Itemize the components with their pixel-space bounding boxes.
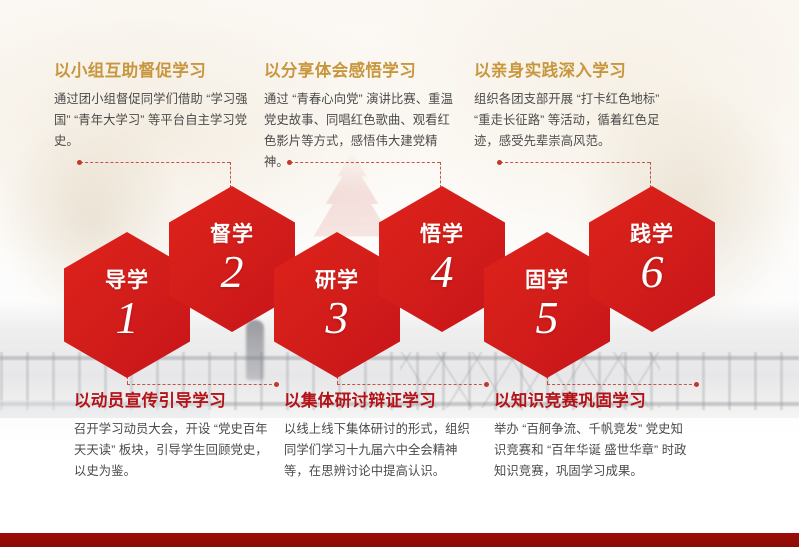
step-label-5: 固学 — [525, 270, 569, 291]
connector-line-top-3-vertical — [650, 162, 651, 188]
connector-dot-bottom-2 — [484, 382, 489, 387]
top-block-title-2: 以分享体会感悟学习 — [264, 62, 460, 82]
step-label-6: 践学 — [630, 224, 674, 245]
bottom-text-block-2: 以集体研讨辩证学习 以线上线下集体研讨的形式，组织同学们学习十九届六中全会精神等… — [284, 392, 480, 482]
background-person-silhouette — [246, 320, 264, 380]
top-text-block-2: 以分享体会感悟学习 通过 “青春心向党” 演讲比赛、重温党史故事、同唱红色歌曲、… — [264, 62, 460, 173]
bottom-text-block-3: 以知识竞赛巩固学习 举办 “百舸争流、千帆竞发” 党史知识竞赛和 “百年华诞 盛… — [494, 392, 690, 482]
step-number-2: 2 — [221, 249, 244, 295]
connector-dot-bottom-1 — [274, 382, 279, 387]
top-block-body-2: 通过 “青春心向党” 演讲比赛、重温党史故事、同唱红色歌曲、观看红色影片等方式，… — [264, 89, 460, 174]
top-block-body-3: 组织各团支部开展 “打卡红色地标” “重走长征路” 等活动，循着红色足迹，感受先… — [474, 89, 670, 152]
step-number-3: 3 — [326, 295, 349, 341]
connector-line-bottom-3-horizontal — [547, 384, 697, 385]
infographic-canvas: 导学 1 督学 2 研学 3 悟学 4 固学 5 践学 6 以小组互助督促学习 … — [0, 0, 799, 547]
top-block-title-3: 以亲身实践深入学习 — [474, 62, 670, 82]
bottom-block-body-1: 召开学习动员大会，开设 “党史百年天天读” 板块，引导学生回顾党史，以史为鉴。 — [74, 419, 270, 482]
bottom-text-block-1: 以动员宣传引导学习 召开学习动员大会，开设 “党史百年天天读” 板块，引导学生回… — [74, 392, 270, 482]
bottom-block-body-2: 以线上线下集体研讨的形式，组织同学们学习十九届六中全会精神等，在思辨讨论中提高认… — [284, 419, 480, 482]
connector-line-bottom-2-horizontal — [337, 384, 487, 385]
connector-dot-bottom-3 — [694, 382, 699, 387]
connector-line-top-1-vertical — [230, 162, 231, 188]
connector-line-top-3-horizontal — [500, 162, 650, 163]
top-text-block-1: 以小组互助督促学习 通过团小组督促同学们借助 “学习强国” “青年大学习” 等平… — [54, 62, 250, 152]
top-block-body-1: 通过团小组督促同学们借助 “学习强国” “青年大学习” 等平台自主学习党史。 — [54, 89, 250, 152]
step-label-4: 悟学 — [420, 224, 464, 245]
bottom-block-title-3: 以知识竞赛巩固学习 — [494, 392, 690, 412]
top-block-title-1: 以小组互助督促学习 — [54, 62, 250, 82]
bottom-block-title-2: 以集体研讨辩证学习 — [284, 392, 480, 412]
bottom-accent-bar — [0, 532, 799, 547]
step-label-3: 研学 — [315, 270, 359, 291]
top-text-block-3: 以亲身实践深入学习 组织各团支部开展 “打卡红色地标” “重走长征路” 等活动，… — [474, 62, 670, 152]
step-number-1: 1 — [116, 295, 139, 341]
bottom-block-title-1: 以动员宣传引导学习 — [74, 392, 270, 412]
step-label-2: 督学 — [210, 224, 254, 245]
step-label-1: 导学 — [105, 270, 149, 291]
connector-line-top-1-horizontal — [80, 162, 230, 163]
step-number-5: 5 — [536, 295, 559, 341]
connector-line-bottom-1-horizontal — [127, 384, 277, 385]
bottom-block-body-3: 举办 “百舸争流、千帆竞发” 党史知识竞赛和 “百年华诞 盛世华章” 时政知识竞… — [494, 419, 690, 482]
step-number-6: 6 — [641, 249, 664, 295]
step-number-4: 4 — [431, 249, 454, 295]
